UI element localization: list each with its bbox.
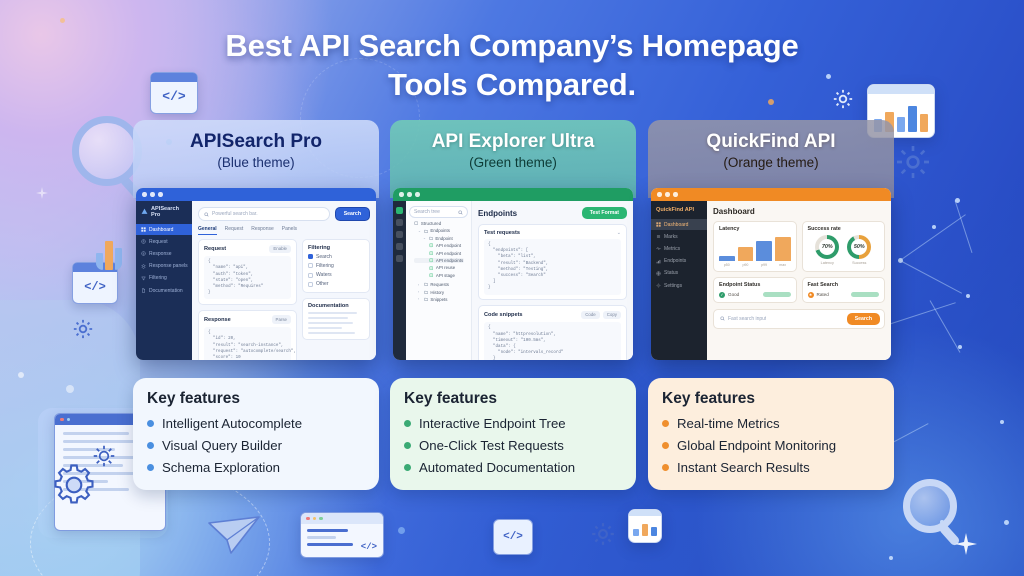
latency-bar-chart xyxy=(719,235,791,261)
globe-icon xyxy=(656,271,661,276)
tree-node-label: API endpoints xyxy=(436,258,463,263)
code-snippets-action-copy[interactable]: Copy xyxy=(603,311,621,319)
tree-node-structured[interactable]: Structured xyxy=(414,221,464,226)
folder-icon xyxy=(424,229,428,233)
feature-item: Instant Search Results xyxy=(662,459,880,476)
axis-tick: max xyxy=(775,263,791,267)
feature-item: Intelligent Autocomplete xyxy=(147,415,365,432)
tree-node-endpoint[interactable]: ⌄Endpoint xyxy=(414,236,464,241)
tree-node-label: API stage xyxy=(436,273,455,278)
search-icon xyxy=(458,210,463,215)
sidebar-item-label: Documentation xyxy=(149,288,183,294)
features-box-quickfind-api: Key features Real-time Metrics Global En… xyxy=(648,378,894,490)
checkbox-icon xyxy=(308,273,313,278)
window-dot xyxy=(657,192,662,197)
search-icon xyxy=(204,212,209,217)
features-heading: Key features xyxy=(662,390,880,408)
sidebar-item-label: Endpoints xyxy=(664,258,686,264)
bullet-icon xyxy=(147,464,154,471)
window-dot xyxy=(665,192,670,197)
tree-node-snippets[interactable]: ›Snippets xyxy=(414,297,464,302)
tree-node-api-endpoint[interactable]: API endpoint xyxy=(414,243,464,248)
latency-card: Latency p50 p90 p99 max xyxy=(713,221,797,272)
tree-node-label: Endpoints xyxy=(430,228,450,233)
donut-label: Latency xyxy=(815,261,839,265)
sidebar-item-request[interactable]: Request xyxy=(136,236,192,247)
test-requests-code: { "endpoints": [ "beta": "list", "result… xyxy=(484,239,621,295)
app-content: Endpoints Test Format Test requests ⌄ { … xyxy=(472,201,633,360)
page-title-line2: Tools Compared. xyxy=(0,65,1024,104)
endpoint-icon xyxy=(429,273,433,277)
feature-item: Global Endpoint Monitoring xyxy=(662,437,880,454)
folder-icon xyxy=(424,290,428,294)
code-snippets-panel: Code snippets Code Copy { "name": "httpr… xyxy=(478,305,627,360)
skeleton-line xyxy=(308,312,357,314)
checkbox-icon xyxy=(308,263,313,268)
checkbox-icon xyxy=(308,282,313,287)
bullet-icon xyxy=(404,442,411,449)
paper-plane-icon xyxy=(207,513,263,562)
filter-option-label: Waters xyxy=(316,272,332,278)
tree-node-label: API endpoint xyxy=(436,243,461,248)
tree-node-api-stage[interactable]: API stage xyxy=(414,273,464,278)
app-brand: QuickFind API xyxy=(651,201,707,217)
search-button[interactable]: Search xyxy=(335,207,370,221)
feature-item: Automated Documentation xyxy=(404,459,622,476)
feature-item: Visual Query Builder xyxy=(147,437,365,454)
filter-option-other[interactable]: Other xyxy=(308,281,364,287)
features-list: Intelligent Autocomplete Visual Query Bu… xyxy=(147,415,365,476)
rail-icon-history[interactable] xyxy=(396,231,403,238)
search-input[interactable]: Fast search input xyxy=(718,314,842,324)
filter-option-waters[interactable]: Waters xyxy=(308,272,364,278)
column-apisearch-pro: APISearch Pro (Blue theme) APISearch Pro xyxy=(133,120,379,198)
app-mockup-quickfind-api: QuickFind API Dashboard Marks xyxy=(651,188,891,360)
feature-label: Interactive Endpoint Tree xyxy=(419,415,566,432)
tree-node-label: API endpoint xyxy=(436,251,461,256)
app-icon-rail xyxy=(393,201,406,360)
download-icon xyxy=(141,251,146,256)
app-mockup-api-explorer-ultra: Search tree Structured ⌄Endpoints ⌄Endpo… xyxy=(393,188,633,360)
success-rate-card-title: Success rate xyxy=(808,226,880,232)
features-list: Real-time Metrics Global Endpoint Monito… xyxy=(662,415,880,476)
card-header-quickfind-api: QuickFind API (Orange theme) xyxy=(648,120,894,198)
network-dot xyxy=(60,18,65,23)
network-dot xyxy=(398,527,405,534)
gear-icon xyxy=(590,521,616,547)
folder-icon xyxy=(429,236,433,240)
tree-node-history[interactable]: ›History xyxy=(414,290,464,295)
endpoint-icon xyxy=(429,258,433,262)
features-heading: Key features xyxy=(147,390,365,408)
tree-node-label: Endpoint xyxy=(435,236,452,241)
search-icon xyxy=(720,316,725,321)
sidebar-item-status[interactable]: Status xyxy=(651,268,707,279)
app-tree-pane: Search tree Structured ⌄Endpoints ⌄Endpo… xyxy=(406,201,472,360)
request-panel-action[interactable]: Enable xyxy=(269,245,291,253)
column-api-explorer-ultra: API Explorer Ultra (Green theme) Search … xyxy=(390,120,636,198)
search-input[interactable]: Powerful search bar. xyxy=(198,207,330,220)
sidebar-item-response-panels[interactable]: Response panels xyxy=(136,261,192,272)
status-pill xyxy=(763,292,791,297)
skeleton-line xyxy=(308,322,353,324)
axis-tick: p50 xyxy=(719,263,735,267)
documentation-panel: Documentation xyxy=(302,298,370,340)
tab-response[interactable]: Response xyxy=(251,226,274,235)
tree-node-label: Structured xyxy=(421,221,441,226)
feature-label: Instant Search Results xyxy=(677,459,810,476)
card-header-api-explorer-ultra: API Explorer Ultra (Green theme) xyxy=(390,120,636,198)
endpoint-tree: Structured ⌄Endpoints ⌄Endpoint API endp… xyxy=(409,218,468,302)
window-dot xyxy=(150,192,155,197)
axis-tick: p90 xyxy=(738,263,754,267)
filter-option-label: Search xyxy=(316,254,332,260)
endpoint-status-title: Endpoint Status xyxy=(719,282,791,288)
tab-panels[interactable]: Panels xyxy=(282,226,297,235)
tab-request[interactable]: Request xyxy=(225,226,244,235)
product-title: API Explorer Ultra xyxy=(400,130,626,153)
tree-search-input[interactable]: Search tree xyxy=(409,206,468,218)
product-subtitle: (Green theme) xyxy=(400,154,626,172)
window-dot xyxy=(407,192,412,197)
endpoint-status-card: Endpoint Status ✓ Good xyxy=(713,277,797,303)
grid-icon xyxy=(141,227,146,232)
success-donuts: 70% Latency 50% Success xyxy=(808,235,880,265)
window-titlebar xyxy=(651,188,891,201)
skeleton-line xyxy=(308,317,348,319)
donut-success: 50% Success xyxy=(847,235,871,265)
filter-option-search[interactable]: Search xyxy=(308,254,364,260)
window-dot xyxy=(399,192,404,197)
donut-ring: 70% xyxy=(815,235,839,259)
page-title-line1: Best API Search Company’s Homepage xyxy=(0,26,1024,65)
sidebar-item-dashboard[interactable]: Dashboard xyxy=(651,219,707,230)
feature-item: One-Click Test Requests xyxy=(404,437,622,454)
test-requests-title: Test requests xyxy=(484,230,520,236)
search-button[interactable]: Search xyxy=(847,313,880,325)
chevron-right-icon[interactable]: › xyxy=(418,290,421,294)
rail-icon-docs[interactable] xyxy=(396,243,403,250)
app-mockup-apisearch-pro: APISearch Pro Dashboard Request xyxy=(136,188,376,360)
latency-card-title: Latency xyxy=(719,226,791,232)
filter-option-filtering[interactable]: Filtering xyxy=(308,263,364,269)
response-panel: Response Parse { "id": 20, "result": "se… xyxy=(198,310,297,360)
sidebar-item-marks[interactable]: Marks xyxy=(651,231,707,242)
latency-axis: p50 p90 p99 max xyxy=(719,263,791,267)
network-dot xyxy=(1004,520,1009,525)
rail-icon-logo[interactable] xyxy=(396,207,403,214)
sidebar-item-label: Request xyxy=(149,239,168,245)
bar xyxy=(738,247,754,261)
response-panel-title: Response xyxy=(204,317,231,323)
doc-icon xyxy=(141,288,146,293)
sidebar-item-label: Response xyxy=(149,251,172,257)
app-content: Dashboard Latency p50 xyxy=(707,201,891,360)
chevron-right-icon[interactable]: › xyxy=(418,297,421,301)
features-list: Interactive Endpoint Tree One-Click Test… xyxy=(404,415,622,476)
sidebar-item-label: Settings xyxy=(664,283,682,289)
folder-icon xyxy=(414,221,418,225)
sidebar-item-filtering[interactable]: Filtering xyxy=(136,273,192,284)
layers-icon xyxy=(141,264,146,269)
endpoint-icon xyxy=(429,243,433,247)
skeleton-line xyxy=(308,327,342,329)
donut-value: 70% xyxy=(819,239,835,255)
app-brand-label: APISearch Pro xyxy=(151,206,188,218)
sidebar-item-label: Status xyxy=(664,270,678,276)
sidebar-item-dashboard[interactable]: Dashboard xyxy=(136,224,192,235)
tree-node-label: Requests xyxy=(430,282,449,287)
checkbox-icon xyxy=(308,254,313,259)
feature-label: Real-time Metrics xyxy=(677,415,780,432)
tree-node-api-endpoint[interactable]: API endpoint xyxy=(414,251,464,256)
bullet-icon xyxy=(662,442,669,449)
app-content: Powerful search bar. Search General Requ… xyxy=(192,201,376,360)
request-panel: Request Enable { "name": "api", "auth": … xyxy=(198,239,297,305)
card-header-apisearch-pro: APISearch Pro (Blue theme) xyxy=(133,120,379,198)
endpoint-status-value: Good xyxy=(728,292,739,297)
window-titlebar xyxy=(393,188,633,201)
sidebar-item-label: Metrics xyxy=(664,246,680,252)
donut-value: 50% xyxy=(851,239,867,255)
filtering-panel: Filtering Search Filtering xyxy=(302,239,370,293)
feature-label: Visual Query Builder xyxy=(162,437,282,454)
endpoint-icon xyxy=(429,251,433,255)
tree-node-api-reuse[interactable]: API reuse xyxy=(414,265,464,270)
product-title: APISearch Pro xyxy=(143,130,369,153)
product-subtitle: (Orange theme) xyxy=(658,154,884,172)
feature-label: Global Endpoint Monitoring xyxy=(677,437,836,454)
fast-search-row: ★ Rated xyxy=(808,292,880,298)
status-pill xyxy=(851,292,879,297)
donut-label: Success xyxy=(847,261,871,265)
bar xyxy=(756,241,772,261)
sidebar-item-label: Dashboard xyxy=(149,227,173,233)
sidebar-item-label: Marks xyxy=(664,234,678,240)
code-snippets-action-code[interactable]: Code xyxy=(581,311,600,319)
request-panel-code: { "name": "api", "auth": "token", "state… xyxy=(204,256,291,299)
sidebar-item-label: Filtering xyxy=(149,275,167,281)
skeleton-line xyxy=(308,332,355,334)
chevron-down-icon[interactable]: ⌄ xyxy=(423,236,426,240)
app-nav-list: Dashboard Marks Metrics Endpoints xyxy=(651,217,707,291)
app-sidebar: QuickFind API Dashboard Marks xyxy=(651,201,707,360)
code-snippets-title: Code snippets xyxy=(484,312,523,318)
request-panel-title: Request xyxy=(204,246,226,252)
logo-icon xyxy=(141,208,148,217)
sidebar-item-response[interactable]: Response xyxy=(136,248,192,259)
tree-node-endpoints[interactable]: ⌄Endpoints xyxy=(414,228,464,233)
window-dot xyxy=(158,192,163,197)
code-badge-glyph: </> xyxy=(503,531,523,543)
response-panel-code: { "id": 20, "result": "search-instance",… xyxy=(204,327,291,360)
test-requests-panel: Test requests ⌄ { "endpoints": [ "beta":… xyxy=(478,224,627,300)
chevron-down-icon[interactable]: ⌄ xyxy=(617,230,621,236)
bullet-icon xyxy=(404,464,411,471)
fast-search-card: Fast Search ★ Rated xyxy=(802,277,886,303)
sparkle-icon xyxy=(955,533,977,560)
filter-icon xyxy=(141,276,146,281)
feature-label: Schema Exploration xyxy=(162,459,280,476)
rail-icon-settings[interactable] xyxy=(396,255,403,262)
feature-item: Real-time Metrics xyxy=(662,415,880,432)
upload-icon xyxy=(141,239,146,244)
sidebar-item-label: Dashboard xyxy=(664,222,688,228)
sidebar-item-settings[interactable]: Settings xyxy=(651,280,707,291)
bullet-icon xyxy=(404,420,411,427)
app-nav-list: Dashboard Request Response Response xyxy=(136,222,192,296)
features-box-apisearch-pro: Key features Intelligent Autocomplete Vi… xyxy=(133,378,379,490)
code-snippets-code: { "name": "httpresolution", "timeout": "… xyxy=(484,322,621,360)
donut-ring: 50% xyxy=(847,235,871,259)
bullet-icon xyxy=(147,442,154,449)
tree-node-label: Snippets xyxy=(430,297,447,302)
column-quickfind-api: QuickFind API (Orange theme) QuickFind A… xyxy=(648,120,894,198)
folder-icon xyxy=(424,297,428,301)
feature-label: Intelligent Autocomplete xyxy=(162,415,302,432)
sidebar-item-endpoints[interactable]: Endpoints xyxy=(651,256,707,267)
gear-icon xyxy=(656,283,661,288)
donut-latency: 70% Latency xyxy=(815,235,839,265)
code-badge: </> xyxy=(493,519,533,555)
app-brand: APISearch Pro xyxy=(136,201,192,222)
search-placeholder: Powerful search bar. xyxy=(212,211,258,217)
window-titlebar xyxy=(136,188,376,201)
documentation-panel-title: Documentation xyxy=(308,303,364,309)
pulse-icon xyxy=(656,246,661,251)
filtering-panel-title: Filtering xyxy=(308,245,364,251)
feature-label: One-Click Test Requests xyxy=(419,437,564,454)
sidebar-item-metrics[interactable]: Metrics xyxy=(651,243,707,254)
network-dot xyxy=(889,556,893,560)
features-heading: Key features xyxy=(404,390,622,408)
chevron-right-icon[interactable]: › xyxy=(418,283,421,287)
tree-node-requests[interactable]: ›Requests xyxy=(414,282,464,287)
product-title: QuickFind API xyxy=(658,130,884,153)
app-brand-label: QuickFind API xyxy=(656,207,694,213)
grid-icon xyxy=(656,222,661,227)
sidebar-item-label: Response panels xyxy=(149,263,188,269)
endpoint-icon xyxy=(429,266,433,270)
bullet-icon xyxy=(662,420,669,427)
feature-item: Interactive Endpoint Tree xyxy=(404,415,622,432)
star-icon: ★ xyxy=(808,292,814,298)
sidebar-item-documentation[interactable]: Documentation xyxy=(136,285,192,296)
bar xyxy=(775,237,791,261)
bullet-icon xyxy=(662,464,669,471)
fast-search-title: Fast Search xyxy=(808,282,880,288)
app-tabs: General Request Response Panels xyxy=(198,226,370,235)
page-title: Best API Search Company’s Homepage Tools… xyxy=(0,26,1024,104)
window-dot xyxy=(415,192,420,197)
bullet-icon xyxy=(147,420,154,427)
filter-option-label: Other xyxy=(316,281,329,287)
search-placeholder: Fast search input xyxy=(728,316,766,322)
feature-item: Schema Exploration xyxy=(147,459,365,476)
chart-icon xyxy=(656,259,661,264)
tree-node-label: History xyxy=(430,290,444,295)
test-format-button[interactable]: Test Format xyxy=(582,207,627,219)
product-subtitle: (Blue theme) xyxy=(143,154,369,172)
feature-label: Automated Documentation xyxy=(419,459,575,476)
tree-search-placeholder: Search tree xyxy=(414,209,440,215)
comparison-columns: APISearch Pro (Blue theme) APISearch Pro xyxy=(0,120,1024,520)
folder-icon xyxy=(424,282,428,286)
endpoint-status-row: ✓ Good xyxy=(719,292,791,298)
window-dot xyxy=(142,192,147,197)
check-icon: ✓ xyxy=(719,292,725,298)
bar xyxy=(719,256,735,261)
chevron-down-icon[interactable]: ⌄ xyxy=(418,229,421,233)
app-sidebar: APISearch Pro Dashboard Request xyxy=(136,201,192,360)
content-title: Endpoints xyxy=(478,209,517,218)
list-icon xyxy=(656,234,661,239)
page-title: Dashboard xyxy=(713,207,885,216)
features-box-api-explorer-ultra: Key features Interactive Endpoint Tree O… xyxy=(390,378,636,490)
filter-option-label: Filtering xyxy=(316,263,334,269)
success-rate-card: Success rate 70% Latency xyxy=(802,221,886,272)
tab-general[interactable]: General xyxy=(198,226,217,235)
axis-tick: p99 xyxy=(756,263,772,267)
tree-node-label: API reuse xyxy=(436,265,455,270)
fast-search-value: Rated xyxy=(817,292,829,297)
rail-icon-endpoints[interactable] xyxy=(396,219,403,226)
window-dot xyxy=(673,192,678,197)
response-panel-action[interactable]: Parse xyxy=(272,315,291,323)
tree-node-api-endpoints-selected[interactable]: API endpoints xyxy=(414,258,464,263)
